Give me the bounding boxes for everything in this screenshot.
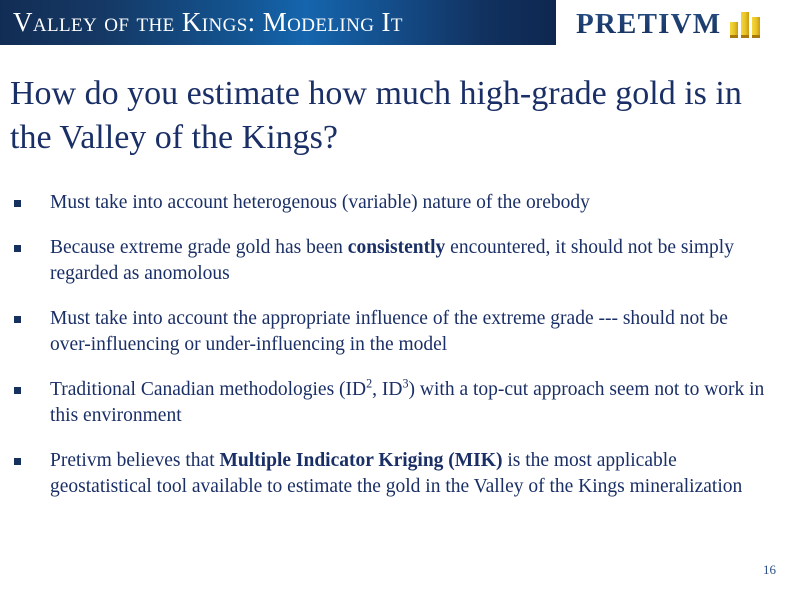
bullet-item-traditional-methodologies: Traditional Canadian methodologies (ID2,…	[0, 377, 790, 429]
slide-heading: How do you estimate how much high-grade …	[10, 72, 750, 160]
bullet-item-appropriate-influence: Must take into account the appropriate i…	[0, 306, 790, 358]
square-bullet-icon	[14, 316, 21, 323]
square-bullet-icon	[14, 458, 21, 465]
logo-bar-medium	[752, 17, 760, 38]
slide-title-bar: Valley of the Kings: Modeling It	[0, 0, 556, 45]
square-bullet-icon	[14, 245, 21, 252]
bullet-text: Because extreme grade gold has been cons…	[50, 237, 734, 284]
pretivm-logo: PRETIVM	[576, 7, 760, 41]
bullet-text: Must take into account the appropriate i…	[50, 308, 728, 355]
logo-bar-tall	[741, 12, 749, 38]
square-bullet-icon	[14, 200, 21, 207]
bullet-list: Must take into account heterogenous (var…	[0, 190, 790, 519]
bullet-text: Traditional Canadian methodologies (ID2,…	[50, 379, 764, 426]
square-bullet-icon	[14, 387, 21, 394]
page-number: 16	[763, 562, 776, 578]
bullet-text: Pretivm believes that Multiple Indicator…	[50, 450, 742, 497]
bullet-item-consistently-encountered: Because extreme grade gold has been cons…	[0, 235, 790, 287]
pretivm-bars-icon	[730, 10, 760, 38]
slide-title: Valley of the Kings: Modeling It	[13, 4, 403, 40]
bullet-item-heterogenous-orebody: Must take into account heterogenous (var…	[0, 190, 790, 216]
bullet-item-multiple-indicator-kriging: Pretivm believes that Multiple Indicator…	[0, 448, 790, 500]
logo-bar-short	[730, 22, 738, 38]
bullet-text: Must take into account heterogenous (var…	[50, 192, 590, 213]
pretivm-wordmark: PRETIVM	[576, 8, 721, 40]
